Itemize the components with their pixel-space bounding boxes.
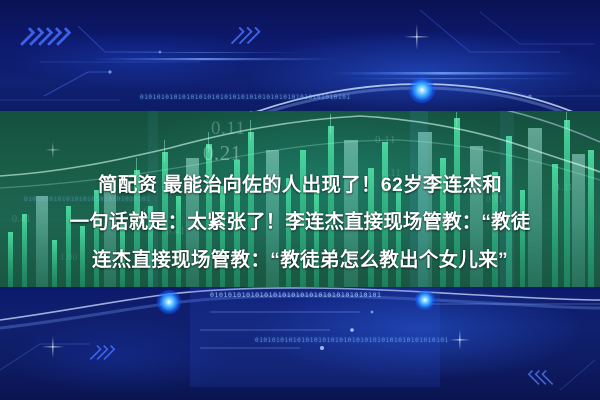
headline-line-2: 一句话就是：太紧张了！李连杰直接现场管教：“教徒 (0, 205, 600, 234)
chevron-left-arrows-icon (532, 370, 552, 386)
headline-line-1: 简配资 最能治向佐的人出现了！62岁李连杰和 (0, 168, 600, 197)
binary-code-strip: 01010101010101010101010101010101010101 (210, 292, 382, 299)
headline-line-2-text: 一句话就是：太紧张了！李连杰直接现场管教：“教徒 (70, 211, 531, 233)
glow-node-icon (157, 290, 181, 314)
binary-code-strip: 0101010101010101010101010101010101010101… (255, 337, 449, 344)
glow-node-icon (415, 290, 435, 310)
binary-code-strip: 010101010101010101010101010101 (24, 196, 150, 203)
chevron-right-arrows-icon (91, 345, 111, 361)
sparkle-star-icon (404, 24, 430, 50)
sparkle-star-icon (450, 330, 470, 350)
banner-image: 0101010101010101010101010101010101010101… (0, 0, 600, 400)
sparkle-star-icon (42, 336, 64, 358)
sparkle-star-icon (45, 142, 61, 158)
chevron-right-arrows-icon (232, 27, 255, 45)
glow-node-icon (409, 77, 435, 103)
chart-value-label: 0.11 (211, 118, 246, 140)
chart-value-label: 0.21 (203, 141, 242, 166)
binary-code-strip: 0101010101010101010101010101010101010101… (140, 94, 351, 101)
chevron-right-arrows-icon (22, 27, 66, 46)
chart-value-label: 0.11 (375, 134, 396, 146)
headline-line-3: 连杰直接现场管教：“教徒弟怎么教出个女儿来” (0, 243, 600, 272)
